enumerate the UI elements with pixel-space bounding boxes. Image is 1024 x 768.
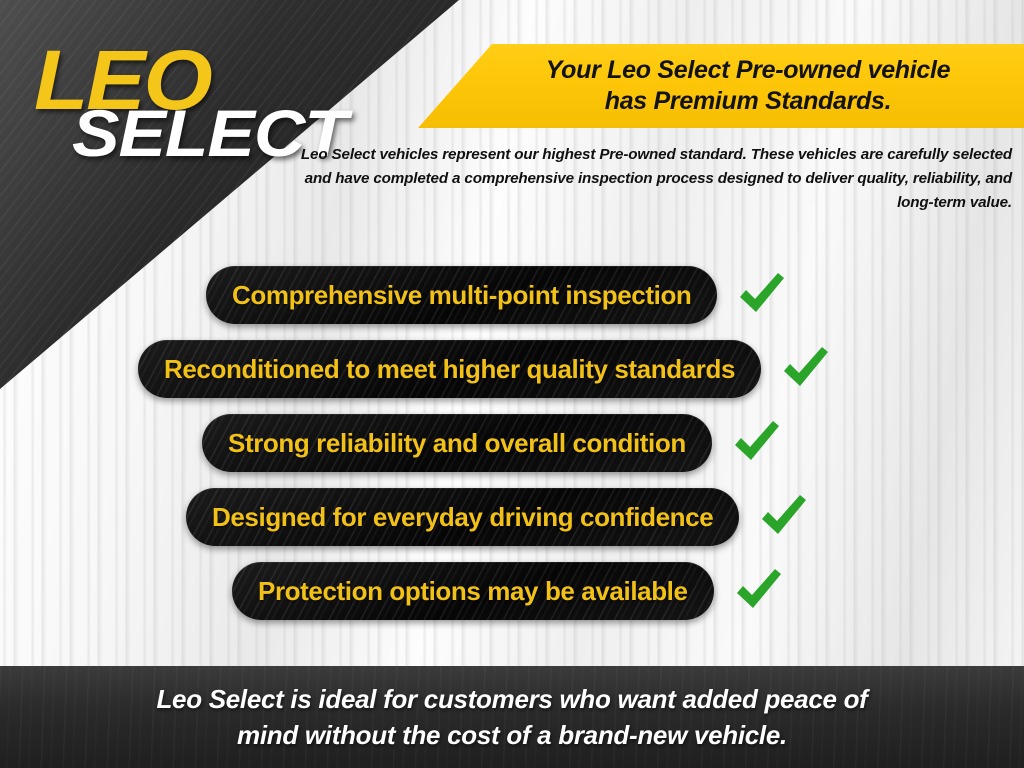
feature-label: Designed for everyday driving confidence [212, 503, 713, 531]
footer-line-1: Leo Select is ideal for customers who wa… [156, 681, 867, 717]
green-checkmark-icon [755, 489, 811, 545]
feature-list: Comprehensive multi-point inspection Rec… [0, 266, 1024, 656]
green-checkmark-icon [730, 563, 786, 619]
feature-row: Reconditioned to meet higher quality sta… [138, 340, 833, 398]
intro-paragraph: Leo Select vehicles represent our highes… [300, 143, 1012, 215]
headline-line-2: has Premium Standards. [605, 86, 892, 117]
feature-label: Reconditioned to meet higher quality sta… [164, 355, 735, 383]
feature-pill: Designed for everyday driving confidence [186, 488, 739, 546]
green-checkmark-icon [777, 341, 833, 397]
feature-pill: Protection options may be available [232, 562, 714, 620]
footer-line-2: mind without the cost of a brand-new veh… [237, 717, 787, 753]
feature-row: Protection options may be available [232, 562, 786, 620]
feature-label: Strong reliability and overall condition [228, 429, 686, 457]
feature-row: Comprehensive multi-point inspection [206, 266, 789, 324]
footer-bar: Leo Select is ideal for customers who wa… [0, 666, 1024, 768]
leo-select-logo: LEO SELECT [30, 38, 330, 178]
feature-label: Protection options may be available [258, 577, 688, 605]
headline-line-1: Your Leo Select Pre-owned vehicle [546, 55, 951, 86]
feature-pill: Comprehensive multi-point inspection [206, 266, 717, 324]
headline-banner: Your Leo Select Pre-owned vehicle has Pr… [418, 44, 1024, 128]
green-checkmark-icon [728, 415, 784, 471]
feature-pill: Reconditioned to meet higher quality sta… [138, 340, 761, 398]
poster-canvas: LEO SELECT Your Leo Select Pre-owned veh… [0, 0, 1024, 768]
feature-pill: Strong reliability and overall condition [202, 414, 712, 472]
green-checkmark-icon [733, 267, 789, 323]
feature-row: Strong reliability and overall condition [202, 414, 784, 472]
feature-label: Comprehensive multi-point inspection [232, 281, 691, 309]
feature-row: Designed for everyday driving confidence [186, 488, 811, 546]
